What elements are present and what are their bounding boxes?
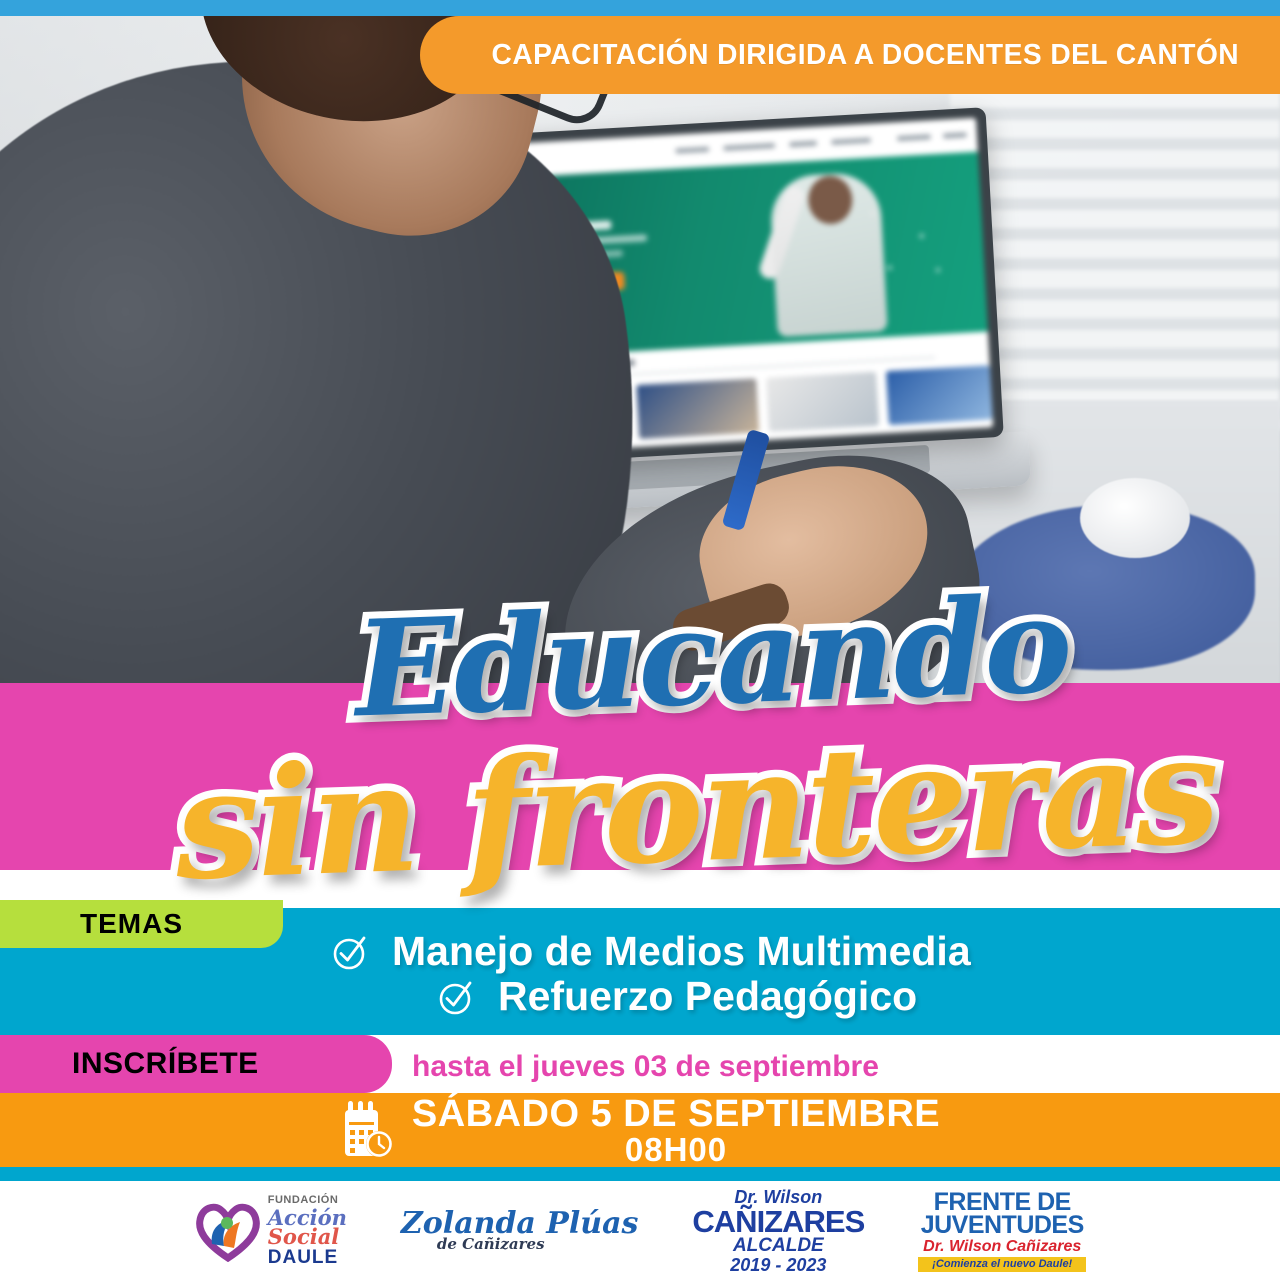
logo-fas-line3: Social (268, 1226, 347, 1247)
logo-zp-line2: de Cañizares (437, 1237, 545, 1252)
event-date: SÁBADO 5 DE SEPTIEMBRE (412, 1095, 940, 1133)
temas-label-pill: TEMAS (0, 900, 283, 948)
event-date-row: SÁBADO 5 DE SEPTIEMBRE 08H00 (0, 1093, 1280, 1167)
logo-fundacion-accion-social-daule: FUNDACIÓN Acción Social DAULE (194, 1195, 347, 1267)
logo-zolanda-pluas: Zolanda Plúas de Cañizares (401, 1209, 639, 1252)
header-banner: CAPACITACIÓN DIRIGIDA A DOCENTES DEL CAN… (420, 16, 1280, 94)
logo-fj-line2: JUVENTUDES (921, 1213, 1084, 1238)
header-banner-text: CAPACITACIÓN DIRIGIDA A DOCENTES DEL CAN… (492, 39, 1240, 72)
pink-band (0, 683, 1280, 870)
logo-wilson-canizares-alcalde: Dr. Wilson CAÑIZARES ALCALDE 2019 - 2023 (692, 1188, 864, 1274)
website-card (886, 365, 993, 425)
list-item: Refuerzo Pedagógico (436, 973, 1130, 1020)
website-nav-item (675, 147, 709, 154)
temas-list: Manejo de Medios Multimedia Refuerzo Ped… (330, 928, 1130, 1020)
poster-root: CAPACITACIÓN DIRIGIDA A DOCENTES DEL CAN… (0, 0, 1280, 1280)
list-item: Manejo de Medios Multimedia (330, 928, 1130, 975)
tema-text: Refuerzo Pedagógico (498, 973, 917, 1020)
website-card (766, 372, 879, 432)
logo-fj-ribbon: ¡Comienza el nuevo Daule! (918, 1257, 1086, 1272)
tema-text: Manejo de Medios Multimedia (392, 928, 971, 975)
logo-fj-line3: Dr. Wilson Cañizares (923, 1239, 1081, 1255)
website-nav-item (723, 143, 775, 151)
inscribete-deadline: hasta el jueves 03 de septiembre (412, 1050, 879, 1084)
top-blue-strip (0, 0, 1280, 16)
website-nav-item (831, 138, 871, 145)
temas-label: TEMAS (80, 908, 183, 940)
logo-wc-line3: ALCALDE (733, 1236, 824, 1255)
logo-fas-text: FUNDACIÓN Acción Social DAULE (268, 1195, 347, 1267)
cyan-thin-strip (0, 1167, 1280, 1181)
inscribete-label-pill: INSCRÍBETE (0, 1035, 392, 1093)
background-photo (0, 0, 1280, 700)
computer-mouse (1080, 478, 1190, 558)
logo-frente-de-juventudes: FRENTE DE JUVENTUDES Dr. Wilson Cañizare… (918, 1190, 1086, 1272)
sponsor-logos: FUNDACIÓN Acción Social DAULE Zolanda Pl… (0, 1181, 1280, 1280)
logo-fas-line1: FUNDACIÓN (268, 1195, 347, 1206)
inscribete-label: INSCRÍBETE (72, 1047, 259, 1081)
logo-fas-line4: DAULE (268, 1248, 347, 1267)
check-circle-icon (436, 977, 476, 1017)
calendar-clock-icon (340, 1099, 398, 1161)
website-nav-item (789, 141, 817, 148)
website-nav-item (943, 132, 967, 138)
heart-figure-icon (194, 1200, 262, 1262)
logo-wc-line1: Dr. Wilson (734, 1188, 822, 1206)
logo-wc-line2: CAÑIZARES (692, 1206, 864, 1237)
check-circle-icon (330, 932, 370, 972)
logo-wc-line4: 2019 - 2023 (730, 1256, 826, 1274)
website-card (636, 378, 759, 439)
event-time: 08H00 (412, 1133, 940, 1166)
website-nav-item (897, 134, 931, 141)
event-date-text: SÁBADO 5 DE SEPTIEMBRE 08H00 (412, 1095, 940, 1166)
